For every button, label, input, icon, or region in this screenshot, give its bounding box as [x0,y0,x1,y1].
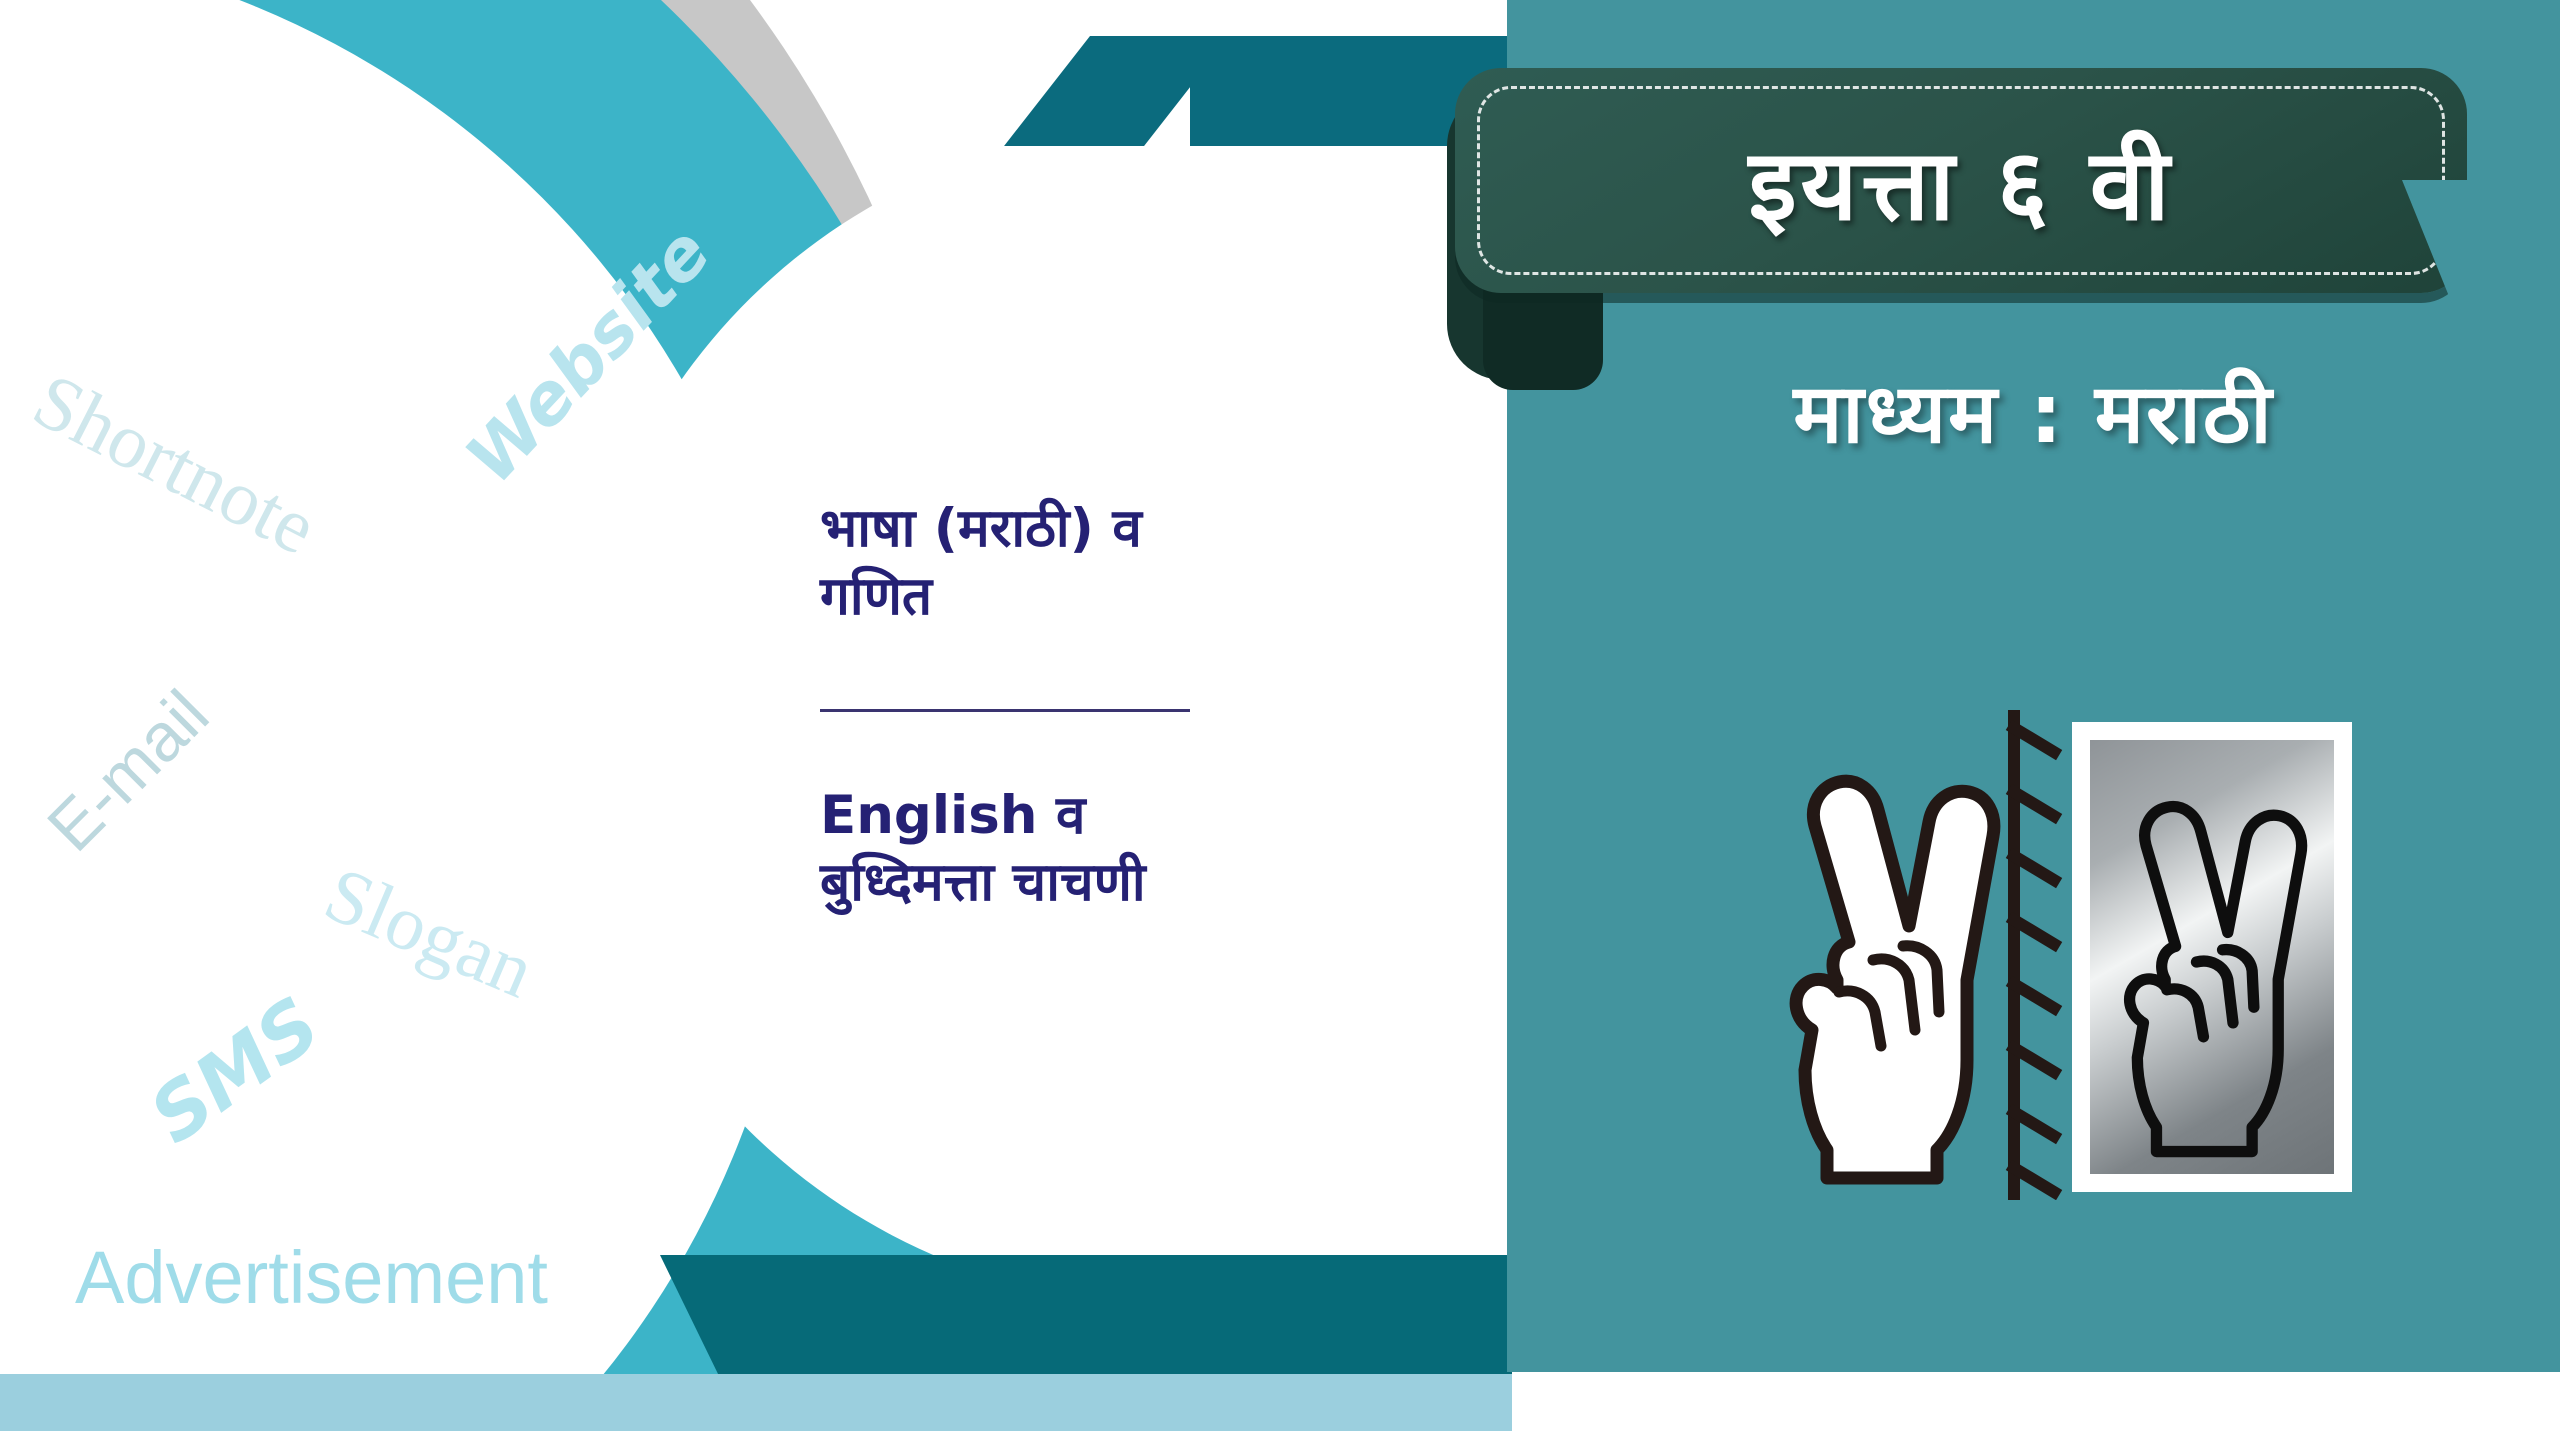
subject-line-english-1: English व [820,782,1340,850]
ribbon-class-title: इयत्ता ६ वी [1455,68,2467,293]
tag-word-advertisement: Advertisement [75,1235,548,1320]
victory-hand-mirror-icon [2098,762,2328,1167]
hatched-line-icon [2002,710,2082,1205]
mirror-surface [2090,740,2334,1174]
mirror-frame [2072,722,2352,1192]
right-teal-panel: इयत्ता ६ वी माध्यम : मराठी [1507,0,2560,1372]
subject-line-marathi-1: भाषा (मराठी) व [820,495,1340,563]
center-subject-text-block: भाषा (मराठी) व गणित English व बुध्दिमत्त… [820,495,1340,917]
presentation-slide: Shortnote Website E-mail Slogan SMS Adve… [0,0,2560,1431]
footer-light-blue-strip [0,1374,1512,1431]
medium-of-instruction-label: माध्यम : मराठी [1507,355,2560,467]
subject-line-marathi-2: गणित [820,563,1340,631]
ribbon-banner: इयत्ता ६ वी [1447,60,2507,310]
bottom-dark-teal-bar [718,1255,1512,1375]
ribbon-body-shape: इयत्ता ६ वी [1455,68,2467,293]
subject-line-english-2: बुध्दिमत्ता चाचणी [820,849,1340,917]
victory-hand-icon [1777,730,2007,1195]
center-divider-rule [820,709,1190,712]
hands-illustration [1777,720,2477,1200]
